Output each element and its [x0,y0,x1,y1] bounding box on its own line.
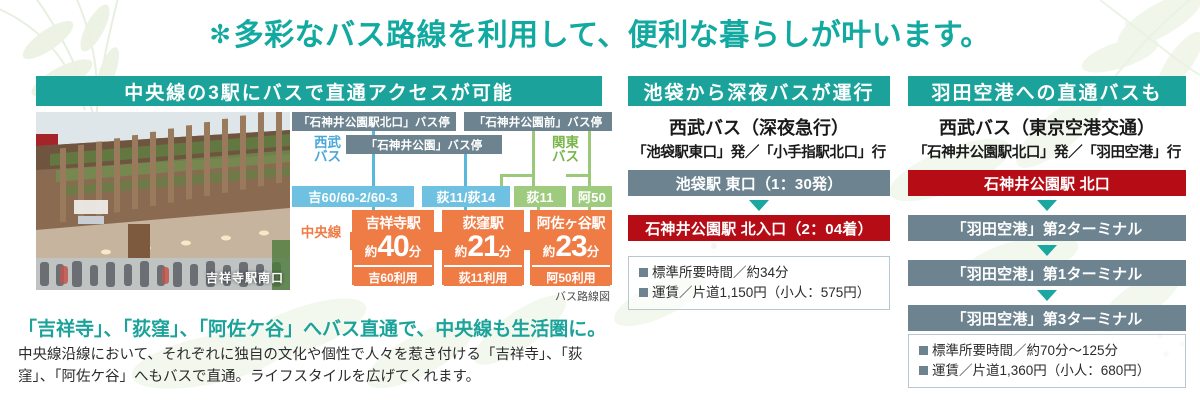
bus-stop-label-koen: 「石神井公園」バス停 [346,135,502,154]
route-badge-kichi60: 吉60/60-2/60-3 [292,186,414,207]
asterisk-icon: ✻ [209,19,231,49]
bullet-square-icon [919,366,928,375]
connector-line-3 [532,131,535,186]
middle-column: 西武バス（深夜急行） 「池袋駅東口」発／「小手指駅北口」行 池袋駅 東口（1：3… [628,114,890,241]
connector-line-7 [566,174,591,177]
middle-fact-row-duration: 標準所要時間／約34分 [639,263,881,283]
bus-stop-label-mae: 「石神井公園前」バス停 [464,112,612,131]
connector-line-5 [500,174,535,177]
station-card-ogikubo: 荻窪駅 約 21 分 荻11利用 [442,210,524,285]
middle-fact-fare-text: 運賃／片道1,150円（小人：575円） [652,285,870,300]
right-fact-row-fare: 運賃／片道1,360円（小人：680円） [919,361,1177,381]
station-route-note: 吉60利用 [354,265,432,286]
photo-caption: 吉祥寺駅南口 [206,269,284,286]
right-node-origin: 石神井公園駅 北口 [908,170,1186,196]
right-fact-box: 標準所要時間／約70分～125分 運賃／片道1,360円（小人：680円） [908,334,1186,388]
down-arrow-icon [1037,290,1057,301]
connector-line-4 [588,131,591,186]
middle-fact-row-fare: 運賃／片道1,150円（小人：575円） [639,283,881,303]
station-time-unit: 分 [409,241,422,260]
station-traveltime: 約 40 分 [365,232,421,262]
operator-label-kanto: 関東 バス [552,136,579,164]
bullet-square-icon [919,346,928,355]
section-header-right: 羽田空港への直通バスも [908,76,1186,106]
station-photo: 吉祥寺駅南口 [36,112,290,290]
middle-node-destination: 石神井公園駅 北入口（2：04着） [628,215,890,241]
station-route-note: 荻11利用 [444,265,522,286]
bus-stop-label-kitaguchi: 「石神井公園駅北口」バス停 [292,112,456,131]
station-route-note: 阿50利用 [532,265,610,286]
right-route-subtitle: 「石神井公園駅北口」発／「羽田空港」行 [908,141,1186,162]
station-traveltime: 約 23 分 [543,232,599,262]
route-badge-ogi11: 荻11 [514,186,566,207]
station-time-prefix: 約 [543,241,556,260]
right-operator-title: 西武バス（東京空港交通） [908,114,1186,140]
right-node-terminal3: 「羽田空港」第3ターミナル [908,305,1186,331]
right-node-terminal1: 「羽田空港」第1ターミナル [908,260,1186,286]
operator-seibu-line1: 西武 [314,136,341,150]
down-arrow-icon [1037,200,1057,211]
route-badge-a50: 阿50 [572,186,612,207]
operator-label-seibu: 西武 バス [314,136,341,164]
right-node-terminal2: 「羽田空港」第2ターミナル [908,215,1186,241]
station-traveltime: 約 21 分 [455,232,511,262]
down-arrow-icon [1037,245,1057,256]
infographic-root: ✻多彩なバス路線を利用して、便利な暮らしが叶います。 中央線の3駅にバスで直通ア… [0,0,1200,405]
section-header-middle: 池袋から深夜バスが運行 [628,76,890,106]
down-arrow-icon [749,200,769,211]
connector-line-2 [464,154,467,186]
middle-operator-title: 西武バス（深夜急行） [628,114,890,140]
bus-route-diagram: 「石神井公園駅北口」バス停 「石神井公園前」バス停 「石神井公園」バス停 西武 … [292,112,612,302]
page-title: ✻多彩なバス路線を利用して、便利な暮らしが叶います。 [0,10,1200,54]
section-header-left: 中央線の3駅にバスで直通アクセスが可能 [36,76,602,106]
diagram-caption: バス路線図 [555,288,610,304]
middle-node-origin: 池袋駅 東口（1：30発） [628,170,890,196]
station-time-unit: 分 [587,241,600,260]
operator-kanto-line2: バス [552,150,579,164]
bullet-square-icon [639,268,648,277]
operator-kanto-line1: 関東 [552,136,579,150]
page-title-text: 多彩なバス路線を利用して、便利な暮らしが叶います。 [234,19,991,52]
right-fact-row-duration: 標準所要時間／約70分～125分 [919,341,1177,361]
chuo-line-label: 中央線 [292,212,350,250]
station-time-unit: 分 [499,241,512,260]
middle-fact-duration-text: 標準所要時間／約34分 [652,265,789,280]
station-time-value: 40 [377,232,408,262]
station-time-value: 21 [467,232,498,262]
right-fact-duration-text: 標準所要時間／約70分～125分 [932,343,1118,358]
bullet-square-icon [639,288,648,297]
middle-route-subtitle: 「池袋駅東口」発／「小手指駅北口」行 [628,141,890,162]
right-fact-fare-text: 運賃／片道1,360円（小人：680円） [932,363,1150,378]
station-time-prefix: 約 [365,241,378,260]
route-badge-ogi11-14: 荻11/荻14 [422,186,510,207]
lead-copy: 「吉祥寺」、「荻窪」、「阿佐ケ谷」へバス直通で、中央線も生活圏に。 [18,314,606,341]
right-column: 西武バス（東京空港交通） 「石神井公園駅北口」発／「羽田空港」行 石神井公園駅 … [908,114,1186,331]
operator-seibu-line2: バス [314,150,341,164]
middle-fact-box: 標準所要時間／約34分 運賃／片道1,150円（小人：575円） [628,256,890,310]
body-copy: 中央線沿線において、それぞれに独自の文化や個性で人々を惹き付ける「吉祥寺」、「荻… [18,344,618,389]
station-time-prefix: 約 [455,241,468,260]
station-time-value: 23 [555,232,586,262]
station-card-asagaya: 阿佐ヶ谷駅 約 23 分 阿50利用 [530,210,612,285]
station-card-kichijoji: 吉祥寺駅 約 40 分 吉60利用 [352,210,434,285]
